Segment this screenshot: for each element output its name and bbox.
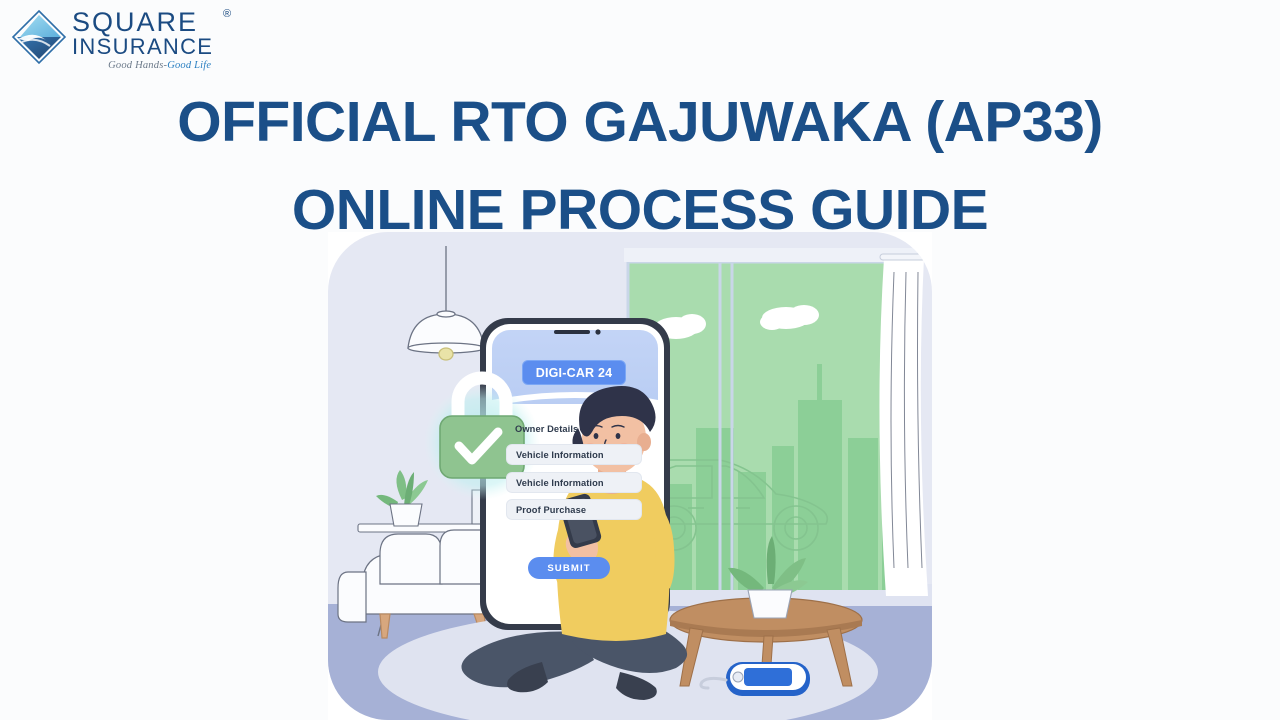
app-name-badge: DIGI-CAR 24 [522, 360, 626, 385]
page-title-line1: OFFICIAL RTO GAJUWAKA (AP33) [177, 90, 1103, 154]
hero-illustration: DIGI-CAR 24 Owner Details Vehicle Inform… [328, 232, 932, 720]
brand-name-line1: SQUARE [72, 9, 213, 35]
brand-name-line2: INSURANCE [72, 35, 213, 58]
brand-tagline: Good Hands-Good Life [72, 59, 213, 72]
form-row-proof-purchase[interactable]: Proof Purchase [506, 499, 642, 520]
registered-trademark-icon: ® [223, 8, 231, 20]
brand-wordmark: SQUARE ® INSURANCE Good Hands-Good Life [72, 6, 213, 72]
brand-logo[interactable]: SQUARE ® INSURANCE Good Hands-Good Life [8, 6, 213, 72]
diamond-swoosh-logo-icon [8, 6, 70, 68]
form-row-owner-details[interactable]: Owner Details [506, 418, 642, 439]
submit-button[interactable]: SUBMIT [528, 557, 610, 579]
brand-tagline-part1: Good Hands- [108, 60, 167, 71]
form-row-vehicle-information-2[interactable]: Vehicle Information [506, 472, 642, 493]
page-root: SQUARE ® INSURANCE Good Hands-Good Life … [0, 0, 1280, 720]
brand-tagline-part2: Good Life [167, 60, 211, 71]
form-row-vehicle-information-1[interactable]: Vehicle Information [506, 444, 642, 465]
page-title: OFFICIAL RTO GAJUWAKA (AP33) ONLINE PROC… [0, 78, 1280, 254]
